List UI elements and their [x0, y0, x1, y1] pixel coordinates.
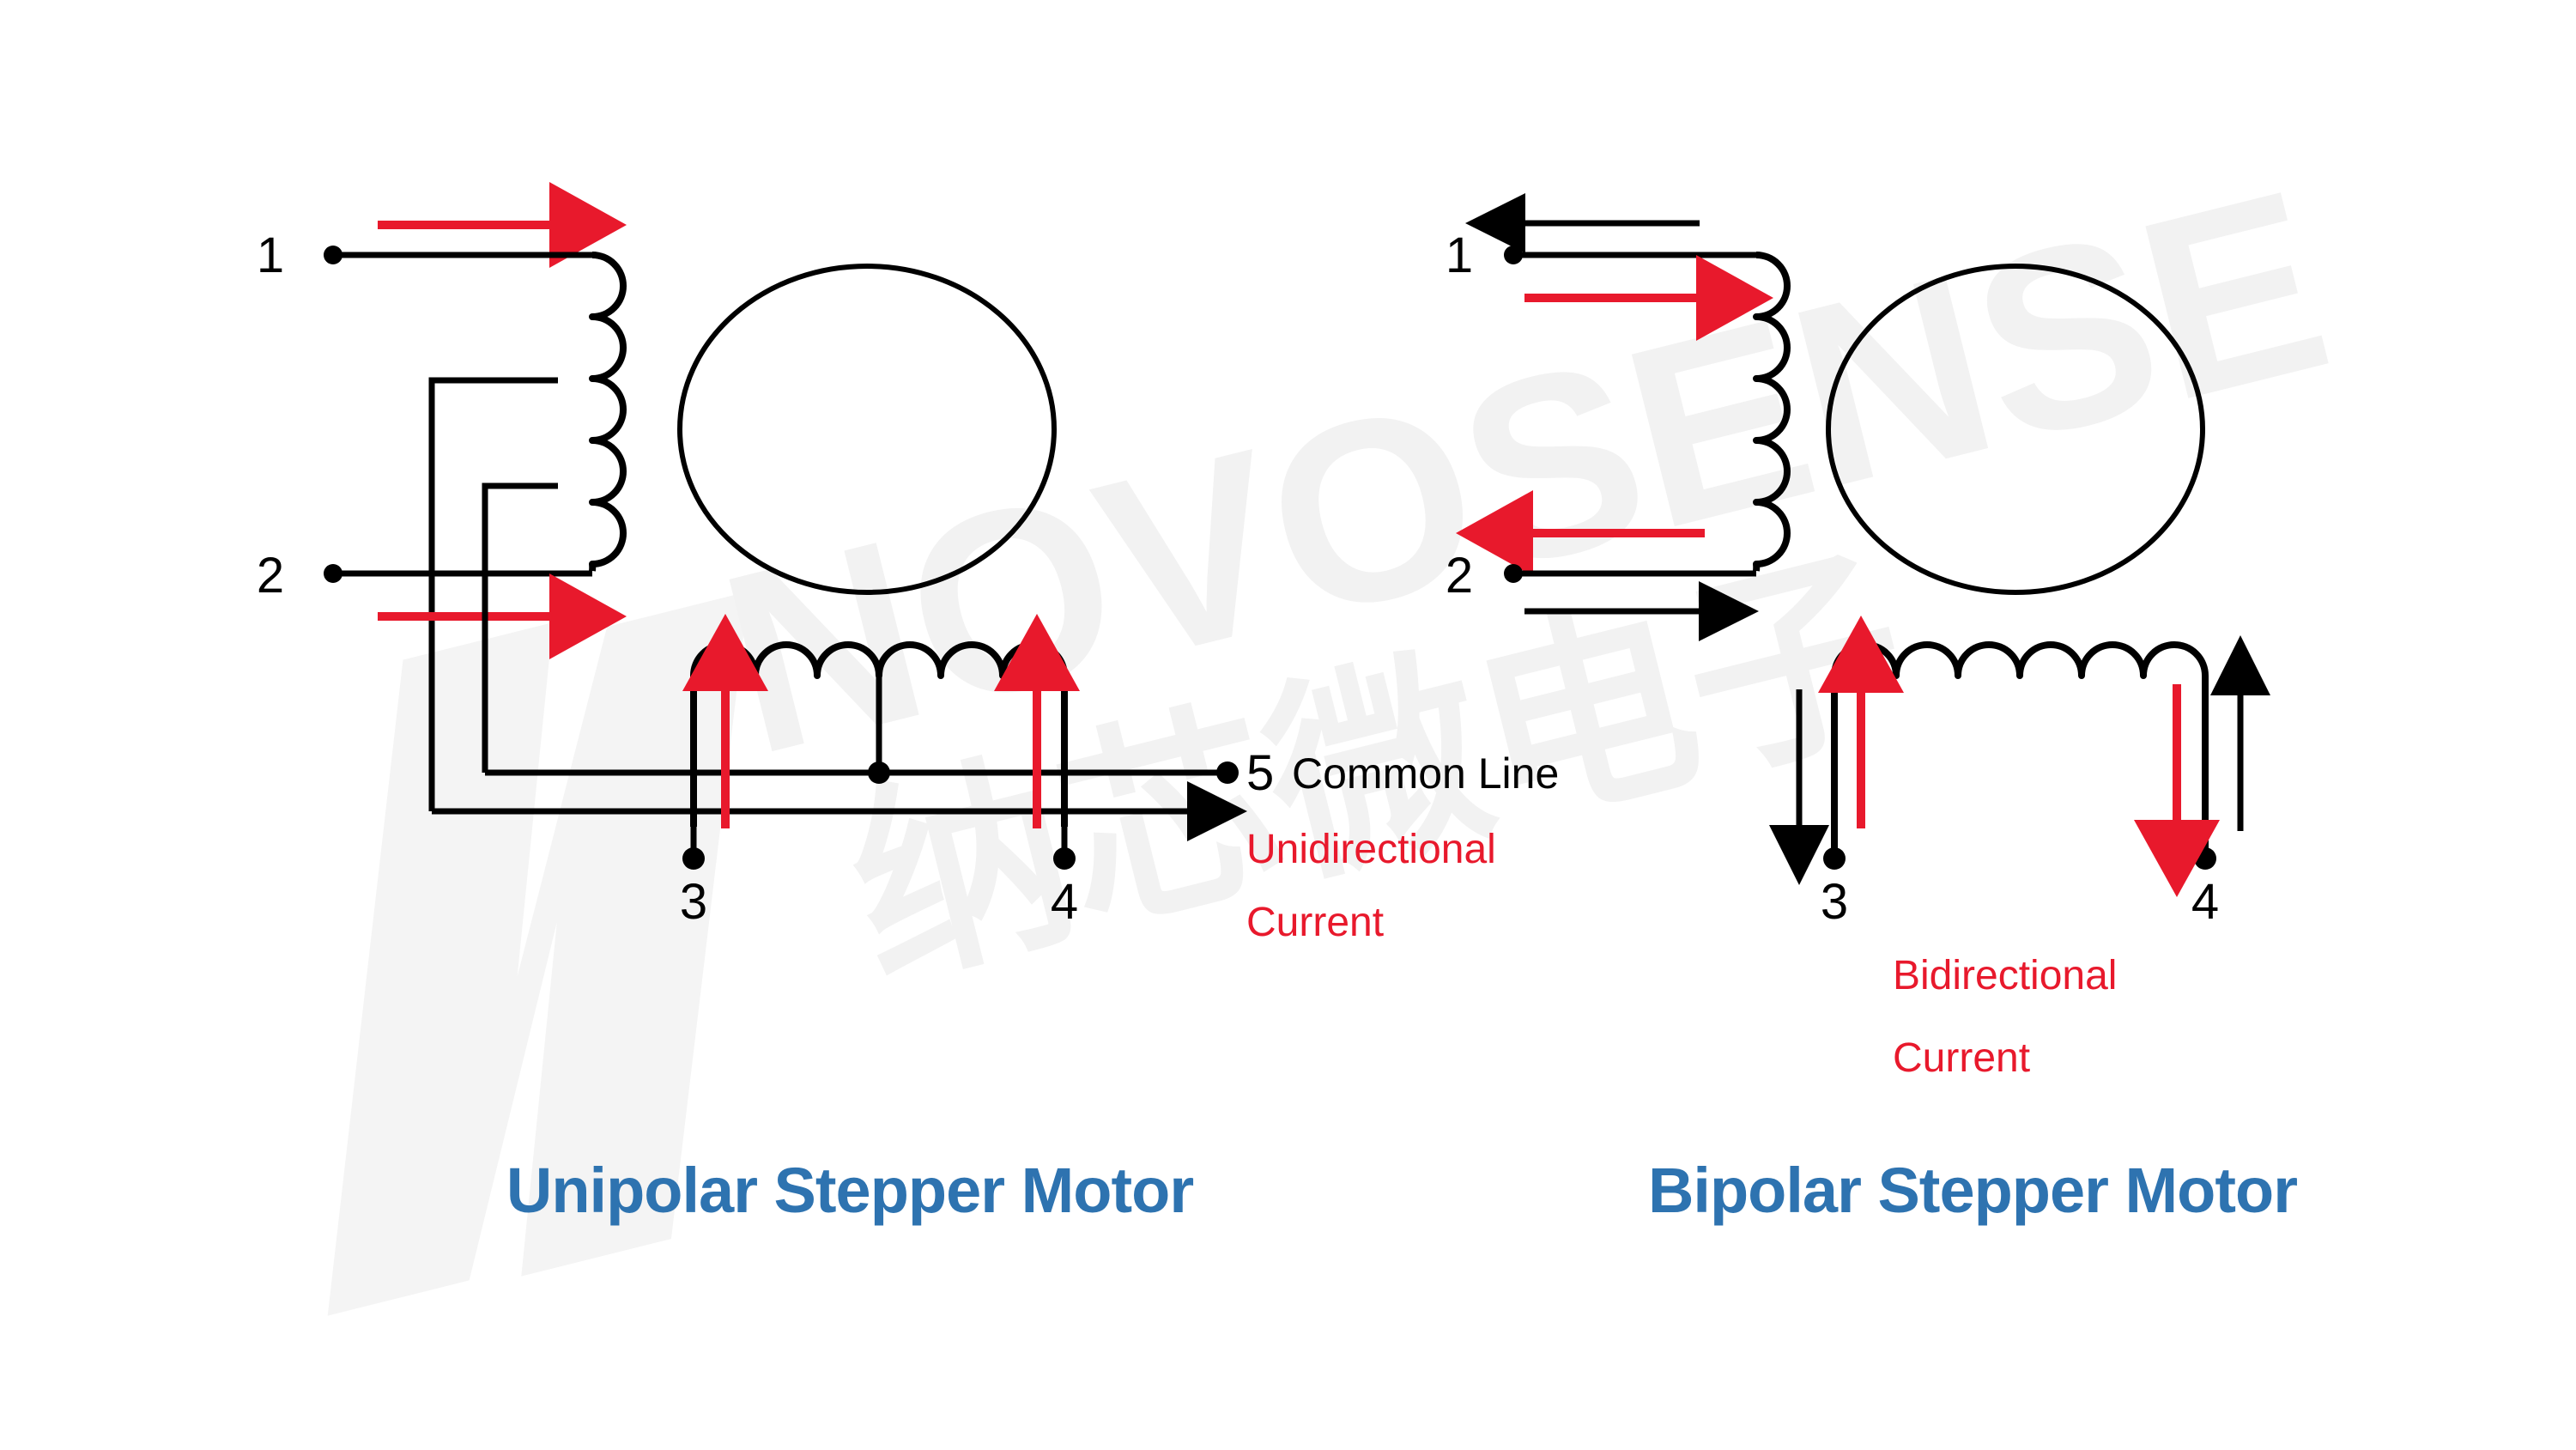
left-terminal-2-label: 2 [257, 548, 284, 604]
left-vertical-coil [592, 255, 623, 571]
right-terminal-4-dot [2194, 847, 2216, 870]
right-terminal-3-dot [1823, 847, 1846, 870]
right-terminal-4-label: 4 [2191, 874, 2219, 930]
left-common-line-label: Common Line [1292, 749, 1559, 798]
left-current-note-line2: Current [1246, 900, 1384, 945]
left-terminal-1-label: 1 [257, 228, 284, 283]
left-terminal-4-dot [1053, 847, 1076, 870]
stepper-motor-comparison-diagram: NOVOSENSE 纳芯微电子 1 2 [0, 0, 2576, 1450]
right-terminal-2-label: 2 [1446, 548, 1473, 604]
right-current-note-line2: Current [1893, 1035, 2030, 1081]
left-diagram-title: Unipolar Stepper Motor [506, 1155, 1193, 1226]
right-current-note-line1: Bidirectional [1893, 953, 2117, 998]
left-current-note-line1: Unidirectional [1246, 827, 1496, 872]
left-terminal-5-label: 5 [1246, 745, 1274, 801]
diagram-canvas: NOVOSENSE 纳芯微电子 1 2 [0, 0, 2576, 1450]
right-diagram-title: Bipolar Stepper Motor [1648, 1155, 2297, 1226]
left-terminal-3-label: 3 [680, 874, 707, 930]
left-terminal-4-label: 4 [1051, 874, 1078, 930]
left-terminal-5-dot [1216, 761, 1239, 784]
watermark-group: NOVOSENSE 纳芯微电子 [179, 134, 2352, 1324]
right-terminal-3-label: 3 [1821, 874, 1848, 930]
left-terminal-3-dot [682, 847, 705, 870]
right-terminal-1-label: 1 [1446, 228, 1473, 283]
